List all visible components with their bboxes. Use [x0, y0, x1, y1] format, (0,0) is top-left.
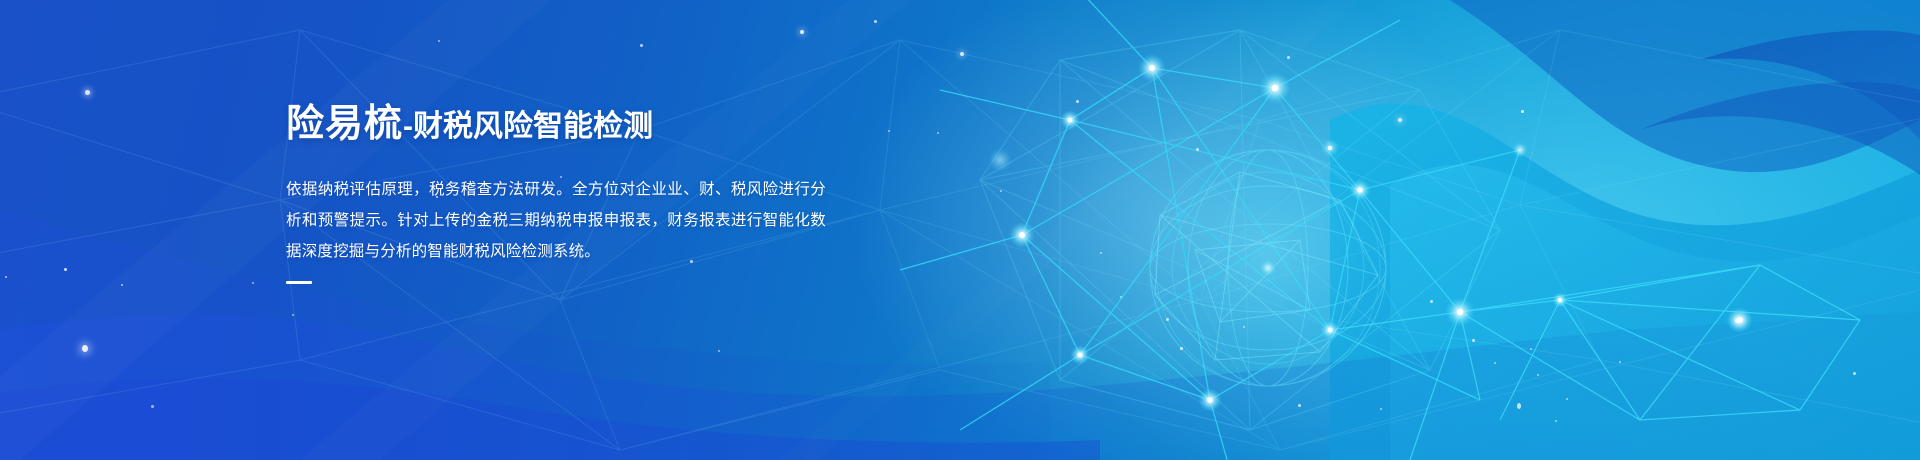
title-subtitle: 财税风险智能检测 — [413, 110, 653, 143]
page-title: 险易梳-财税风险智能检测 — [286, 102, 826, 148]
accent-rule — [286, 281, 312, 284]
title-separator: - — [403, 110, 413, 143]
page-description: 依据纳税评估原理，税务稽查方法研发。全方位对企业业、财、税风险进行分析和预警提示… — [286, 174, 826, 267]
title-main: 险易梳 — [286, 103, 403, 145]
hero-text-block: 险易梳-财税风险智能检测 依据纳税评估原理，税务稽查方法研发。全方位对企业业、财… — [286, 102, 826, 284]
hero-banner: 险易梳-财税风险智能检测 依据纳税评估原理，税务稽查方法研发。全方位对企业业、财… — [0, 0, 1920, 460]
